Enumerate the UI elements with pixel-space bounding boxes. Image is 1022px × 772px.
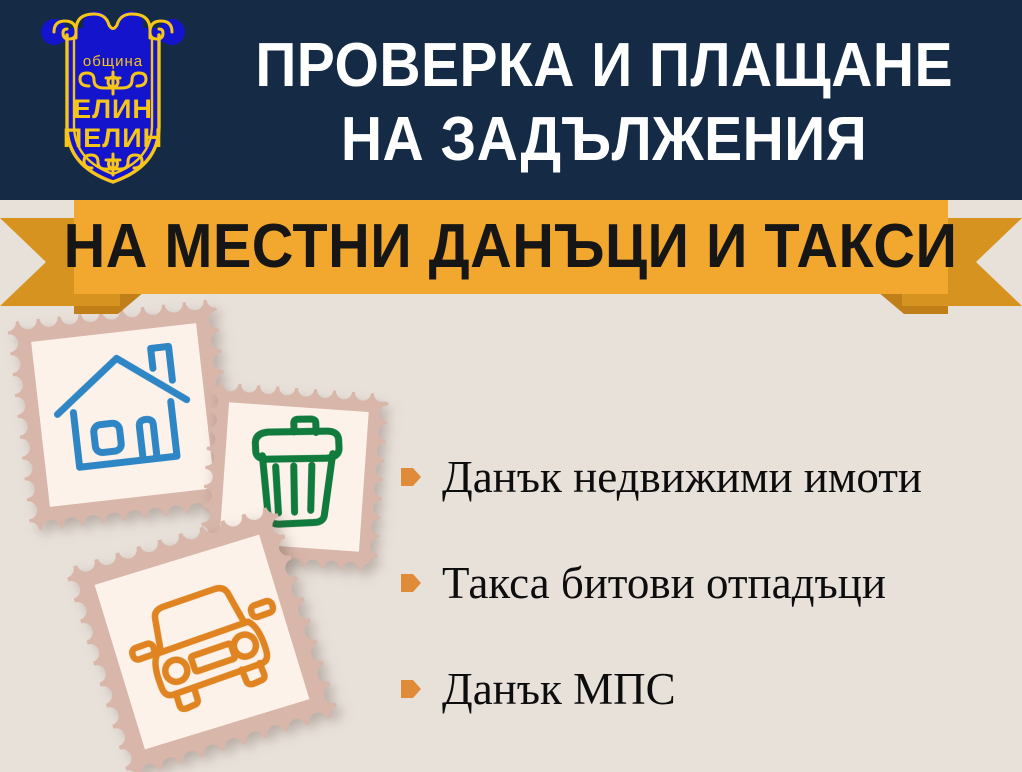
ribbon-band: НА МЕСТНИ ДАНЪЦИ И ТАКСИ bbox=[74, 200, 948, 294]
arrow-pentagon-bullet-icon bbox=[400, 570, 422, 596]
list-item-label: Такса битови отпадъци bbox=[442, 559, 886, 607]
ribbon-label: НА МЕСТНИ ДАНЪЦИ И ТАКСИ bbox=[64, 216, 958, 278]
list-item[interactable]: Такса битови отпадъци bbox=[400, 530, 1010, 636]
svg-text:община: община bbox=[83, 53, 143, 70]
poster-canvas: община ЕЛИН ПЕЛИН ПРОВЕРКА И ПЛАЩАНЕ НА … bbox=[0, 0, 1022, 772]
stamp-card-group bbox=[0, 300, 400, 772]
list-item-label: Данък МПС bbox=[442, 665, 676, 713]
subtitle-ribbon: НА МЕСТНИ ДАНЪЦИ И ТАКСИ bbox=[0, 200, 1022, 308]
list-item-label: Данък недвижими имоти bbox=[442, 453, 922, 501]
list-item[interactable]: Данък недвижими имоти bbox=[400, 424, 1010, 530]
tax-type-list: Данък недвижими имоти Такса битови отпад… bbox=[400, 424, 1010, 742]
svg-text:ПЕЛИН: ПЕЛИН bbox=[63, 123, 163, 153]
svg-text:ЕЛИН: ЕЛИН bbox=[73, 94, 153, 124]
arrow-pentagon-bullet-icon bbox=[400, 676, 422, 702]
coat-of-arms-icon: община ЕЛИН ПЕЛИН bbox=[34, 8, 192, 190]
page-title-line-2: НА ЗАДЪЛЖЕНИЯ bbox=[341, 103, 867, 177]
arrow-pentagon-bullet-icon bbox=[400, 464, 422, 490]
page-title: ПРОВЕРКА И ПЛАЩАНЕ НА ЗАДЪЛЖЕНИЯ bbox=[196, 18, 1012, 188]
list-item[interactable]: Данък МПС bbox=[400, 636, 1010, 742]
page-title-line-1: ПРОВЕРКА И ПЛАЩАНЕ bbox=[255, 29, 953, 103]
